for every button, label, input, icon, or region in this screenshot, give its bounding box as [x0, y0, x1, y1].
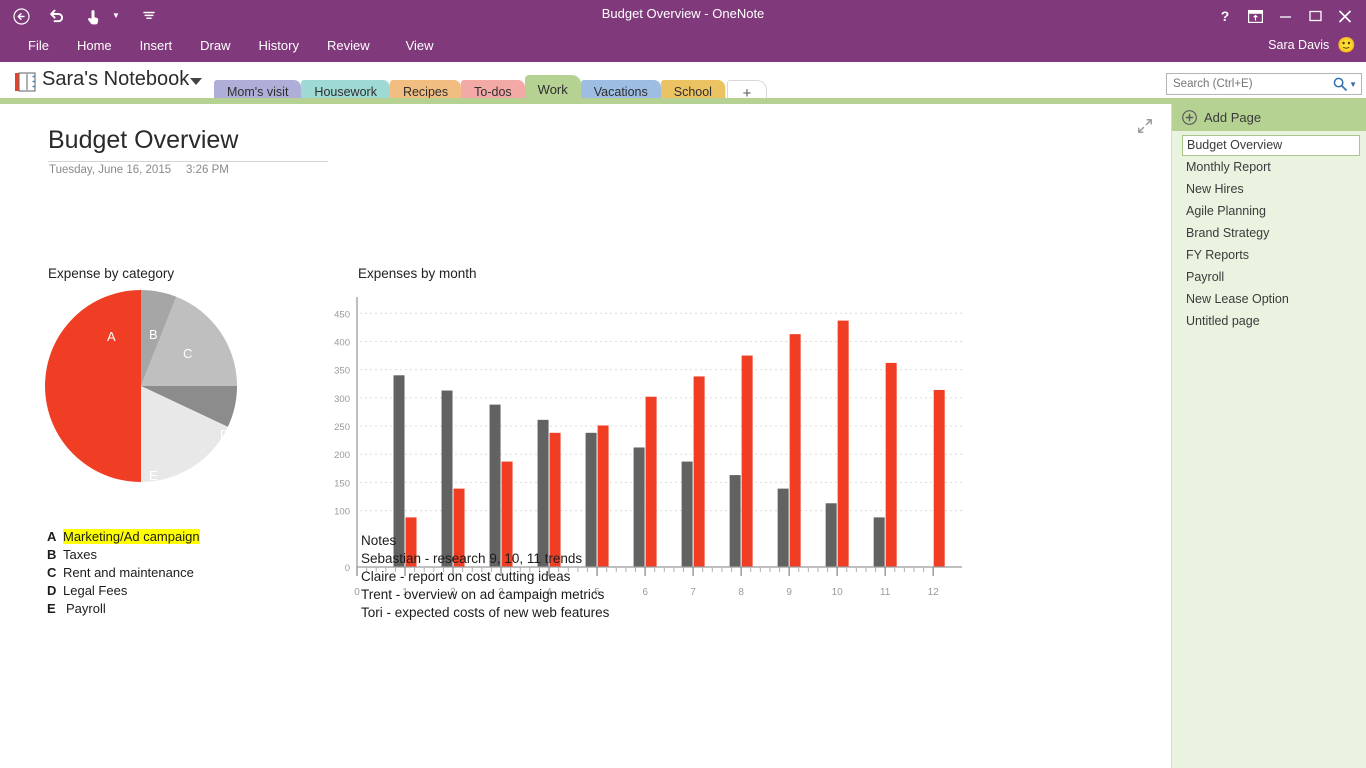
- x-tick-label: 11: [880, 587, 891, 598]
- legend-label-e: Payroll: [63, 601, 106, 616]
- title-bar: ▼ Budget Overview - OneNote ? File Home: [0, 0, 1366, 62]
- bar: [838, 321, 849, 567]
- page-canvas[interactable]: Budget Overview Tuesday, June 16, 20153:…: [0, 104, 1172, 768]
- legend-item: B Taxes: [47, 547, 200, 565]
- y-tick-label: 350: [334, 366, 350, 377]
- bar: [742, 356, 753, 567]
- notes-line: Sebastian - research 9, 10, 11 trends: [361, 550, 609, 568]
- pie-label-e: E: [149, 468, 158, 482]
- close-button[interactable]: [1330, 4, 1360, 28]
- ribbon-tab-file[interactable]: File: [14, 34, 63, 57]
- legend-item: C Rent and maintenance: [47, 565, 200, 583]
- window-title: Budget Overview - OneNote: [0, 6, 1366, 21]
- notebook-icon: [14, 72, 36, 92]
- notes-block[interactable]: Notes Sebastian - research 9, 10, 11 tre…: [361, 532, 609, 622]
- legend-item: E Payroll: [47, 601, 200, 619]
- page-timestamp: Tuesday, June 16, 20153:26 PM: [49, 164, 229, 176]
- search-icon[interactable]: [1331, 77, 1349, 91]
- bar: [778, 489, 789, 567]
- x-tick-label: 10: [832, 587, 844, 598]
- user-name: Sara Davis: [1268, 38, 1329, 52]
- bar: [826, 503, 837, 567]
- page-title[interactable]: Budget Overview: [48, 126, 328, 162]
- minimize-button[interactable]: [1270, 4, 1300, 28]
- ribbon-tab-view[interactable]: View: [392, 34, 448, 57]
- user-account-area[interactable]: Sara Davis 🙂: [1268, 36, 1356, 54]
- bar: [730, 475, 741, 567]
- x-tick-label: 12: [928, 587, 940, 598]
- page-list-item-budget-overview[interactable]: Budget Overview: [1182, 135, 1360, 156]
- y-tick-label: 200: [334, 450, 350, 461]
- y-tick-label: 450: [334, 309, 350, 320]
- ribbon-tab-home[interactable]: Home: [63, 34, 126, 57]
- pie-slice-a: [45, 290, 141, 482]
- ribbon-tab-insert[interactable]: Insert: [126, 34, 187, 57]
- avatar[interactable]: 🙂: [1337, 36, 1356, 54]
- notebook-name[interactable]: Sara's Notebook: [42, 68, 189, 91]
- add-page-button[interactable]: Add Page: [1172, 104, 1366, 131]
- page-list-item-agile-planning[interactable]: Agile Planning: [1172, 200, 1366, 222]
- page-list: Budget Overview Monthly Report New Hires…: [1172, 131, 1366, 332]
- page-list-item-monthly-report[interactable]: Monthly Report: [1172, 156, 1366, 178]
- ribbon-tab-review[interactable]: Review: [313, 34, 384, 57]
- onenote-window: ▼ Budget Overview - OneNote ? File Home: [0, 0, 1366, 768]
- x-tick-label: 0: [354, 587, 360, 598]
- bar: [934, 390, 945, 567]
- legend-key-d: D: [47, 583, 63, 598]
- search-box[interactable]: ▼: [1166, 73, 1362, 95]
- page-list-item-new-lease-option[interactable]: New Lease Option: [1172, 288, 1366, 310]
- page-list-item-untitled-page[interactable]: Untitled page: [1172, 310, 1366, 332]
- legend-label-a: Marketing/Ad campaign: [63, 529, 200, 544]
- bar: [886, 363, 897, 567]
- page-date: Tuesday, June 16, 2015: [49, 164, 186, 176]
- notes-heading: Notes: [361, 532, 609, 550]
- page-list-pane: Add Page Budget Overview Monthly Report …: [1172, 104, 1366, 768]
- x-tick-label: 8: [738, 587, 744, 598]
- legend-label-c: Rent and maintenance: [63, 565, 194, 580]
- bar: [634, 447, 645, 567]
- y-tick-label: 150: [334, 478, 350, 489]
- notes-line: Claire - report on cost cutting ideas: [361, 568, 609, 586]
- x-tick-label: 7: [690, 587, 696, 598]
- page-list-item-brand-strategy[interactable]: Brand Strategy: [1172, 222, 1366, 244]
- legend-label-b: Taxes: [63, 547, 97, 562]
- legend-item: D Legal Fees: [47, 583, 200, 601]
- x-tick-label: 6: [642, 587, 648, 598]
- pie-chart-title: Expense by category: [48, 266, 174, 281]
- expand-arrows-icon[interactable]: [1137, 118, 1155, 136]
- bar: [694, 376, 705, 567]
- legend-key-e: E: [47, 601, 63, 616]
- pie-label-d: D: [220, 427, 229, 442]
- legend-label-d: Legal Fees: [63, 583, 127, 598]
- pie-chart: A B C D E: [45, 290, 237, 482]
- pie-legend: A Marketing/Ad campaign B Taxes C Rent a…: [47, 529, 200, 619]
- bar: [874, 517, 885, 567]
- add-page-label: Add Page: [1204, 110, 1261, 125]
- plus-circle-icon: [1182, 110, 1197, 125]
- notebook-dropdown-icon[interactable]: [190, 78, 202, 85]
- page-list-item-new-hires[interactable]: New Hires: [1172, 178, 1366, 200]
- bar: [790, 334, 801, 567]
- pie-label-a: A: [107, 329, 116, 344]
- legend-key-a: A: [47, 529, 63, 544]
- ribbon-tab-draw[interactable]: Draw: [186, 34, 244, 57]
- pie-label-b: B: [149, 327, 158, 342]
- ribbon-tab-strip: File Home Insert Draw History Review Vie…: [14, 34, 448, 57]
- restore-button[interactable]: [1300, 4, 1330, 28]
- bar: [682, 462, 693, 567]
- legend-item: A Marketing/Ad campaign: [47, 529, 200, 547]
- notebook-bar: Sara's Notebook Mom's visit Housework Re…: [0, 62, 1366, 102]
- page-list-item-payroll[interactable]: Payroll: [1172, 266, 1366, 288]
- notes-line: Trent - overview on ad campaign metrics: [361, 586, 609, 604]
- legend-key-b: B: [47, 547, 63, 562]
- help-button[interactable]: ?: [1210, 4, 1240, 28]
- ribbon-tab-history[interactable]: History: [245, 34, 313, 57]
- y-tick-label: 0: [345, 563, 350, 574]
- page-time: 3:26 PM: [186, 164, 229, 176]
- y-tick-label: 300: [334, 394, 350, 405]
- x-tick-label: 9: [786, 587, 792, 598]
- y-tick-label: 100: [334, 507, 350, 518]
- pie-label-c: C: [183, 346, 192, 361]
- page-list-item-fy-reports[interactable]: FY Reports: [1172, 244, 1366, 266]
- y-tick-label: 250: [334, 422, 350, 433]
- y-tick-label: 400: [334, 337, 350, 348]
- notes-line: Tori - expected costs of new web feature…: [361, 604, 609, 622]
- bar-chart-title: Expenses by month: [358, 266, 477, 281]
- search-input[interactable]: [1167, 78, 1331, 90]
- ribbon-display-options-icon[interactable]: [1240, 4, 1270, 28]
- window-controls: ?: [1210, 4, 1360, 28]
- legend-key-c: C: [47, 565, 63, 580]
- bar: [646, 397, 657, 567]
- search-dropdown-icon[interactable]: ▼: [1349, 80, 1361, 89]
